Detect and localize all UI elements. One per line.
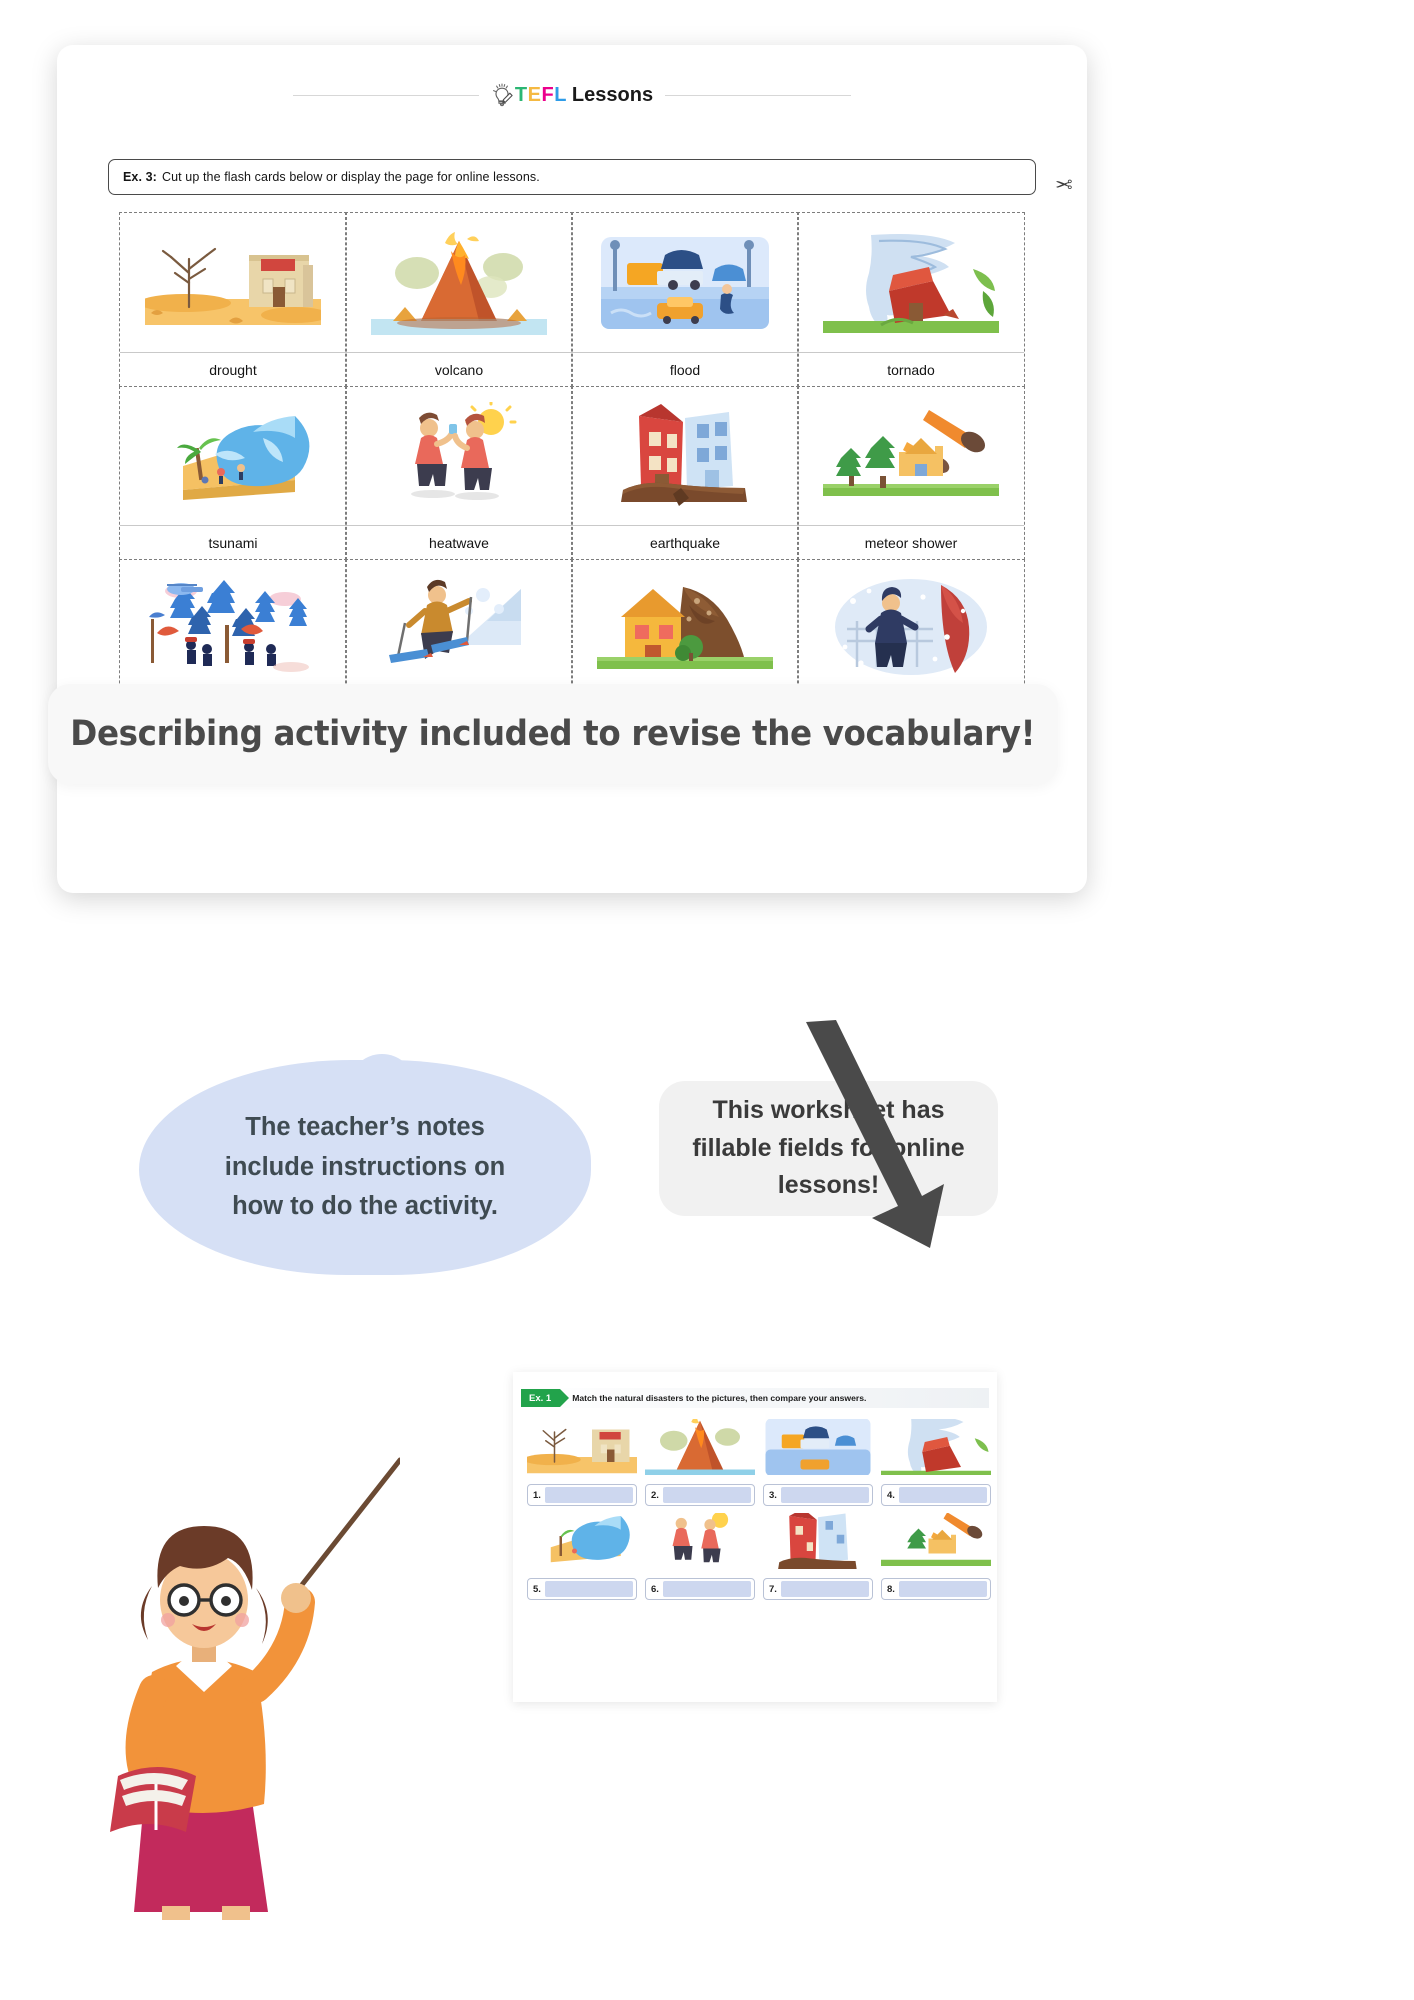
preview-cell-8: 8. [881, 1512, 991, 1600]
preview-instruction-text: Match the natural disasters to the pictu… [572, 1393, 866, 1403]
header-rule-right [665, 95, 851, 96]
header-rule-left [293, 95, 479, 96]
flashcard-label: flood [572, 352, 798, 386]
logo-letter-e: E [528, 84, 542, 106]
flashcard-heatwave[interactable]: heatwave [345, 386, 573, 561]
flashcard-label: heatwave [346, 525, 572, 559]
flood-thumbnail [763, 1418, 873, 1476]
preview-answer-field-5[interactable]: 5. [527, 1578, 637, 1600]
field-number: 3. [769, 1490, 777, 1501]
field-input[interactable] [663, 1487, 751, 1503]
preview-answer-field-4[interactable]: 4. [881, 1484, 991, 1506]
teacher-illustration [100, 1440, 400, 1920]
field-number: 6. [651, 1584, 659, 1595]
preview-grid: 1. 2. [527, 1418, 985, 1600]
worksheet-preview[interactable]: Ex. 1 Match the natural disasters to the… [513, 1372, 997, 1702]
heatwave-thumbnail [645, 1512, 755, 1570]
preview-cell-1: 1. [527, 1418, 637, 1506]
field-number: 1. [533, 1490, 541, 1501]
pointer-arrow-icon [780, 1020, 960, 1250]
logo-letters: TEFL [515, 84, 567, 107]
field-number: 4. [887, 1490, 895, 1501]
landslide-illustration [572, 560, 798, 699]
drought-thumbnail [527, 1418, 637, 1476]
exercise-instruction-bar: Ex. 3: Cut up the flash cards below or d… [108, 159, 1036, 195]
logo-word-lessons: Lessons [572, 84, 653, 107]
field-input[interactable] [781, 1487, 869, 1503]
earthquake-thumbnail [763, 1512, 873, 1570]
tefl-lessons-logo: TEFL Lessons [479, 83, 665, 107]
tornado-illustration [798, 213, 1024, 352]
flashcard-tsunami[interactable]: tsunami [119, 386, 347, 561]
preview-cell-5: 5. [527, 1512, 637, 1600]
tsunami-thumbnail [527, 1512, 637, 1570]
thought-bubble: The teacher’s notes include instructions… [139, 1060, 591, 1275]
field-input[interactable] [781, 1581, 869, 1597]
avalanche-illustration [346, 560, 572, 699]
preview-answer-field-3[interactable]: 3. [763, 1484, 873, 1506]
preview-answer-field-8[interactable]: 8. [881, 1578, 991, 1600]
flashcard-label: earthquake [572, 525, 798, 559]
flashcard-label: drought [120, 352, 346, 386]
field-number: 7. [769, 1584, 777, 1595]
logo-letter-l: L [554, 84, 567, 106]
preview-cell-2: 2. [645, 1418, 755, 1506]
flashcard-drought[interactable]: drought [119, 212, 347, 387]
tsunami-illustration [120, 387, 346, 526]
meteor-thumbnail [881, 1512, 991, 1570]
field-input[interactable] [899, 1581, 987, 1597]
thought-bubble-text: The teacher’s notes include instructions… [200, 1108, 530, 1227]
field-input[interactable] [545, 1487, 633, 1503]
field-input[interactable] [663, 1581, 751, 1597]
flashcard-tornado[interactable]: tornado [797, 212, 1025, 387]
scissors-icon: ✂ [1055, 173, 1073, 198]
preview-cell-4: 4. [881, 1418, 991, 1506]
preview-cell-7: 7. [763, 1512, 873, 1600]
flashcard-meteor-shower[interactable]: meteor shower [797, 386, 1025, 561]
volcano-illustration [346, 213, 572, 352]
field-input[interactable] [545, 1581, 633, 1597]
flashcard-label: volcano [346, 352, 572, 386]
headline-panel: Describing activity included to revise t… [48, 684, 1058, 784]
heatwave-illustration [346, 387, 572, 526]
preview-exercise-badge: Ex. 1 [521, 1389, 560, 1407]
preview-answer-field-2[interactable]: 2. [645, 1484, 755, 1506]
volcano-thumbnail [645, 1418, 755, 1476]
flashcard-label: meteor shower [798, 525, 1024, 559]
lightbulb-pencil-icon [491, 83, 513, 107]
wildfire-illustration [120, 560, 346, 699]
earthquake-illustration [572, 387, 798, 526]
flashcard-label: tsunami [120, 525, 346, 559]
logo-letter-t: T [515, 84, 528, 106]
flashcard-flood[interactable]: flood [571, 212, 799, 387]
meteor-illustration [798, 387, 1024, 526]
headline-text: Describing activity included to revise t… [71, 714, 1036, 754]
flashcard-grid: drought [120, 213, 1024, 733]
exercise-number-label: Ex. 3: [123, 170, 157, 184]
preview-instruction-bar: Ex. 1 Match the natural disasters to the… [521, 1388, 989, 1408]
field-number: 5. [533, 1584, 541, 1595]
flood-illustration [572, 213, 798, 352]
exercise-instruction-text: Cut up the flash cards below or display … [162, 170, 540, 184]
logo-letter-f: F [541, 84, 554, 106]
flashcard-volcano[interactable]: volcano [345, 212, 573, 387]
promo-page: TEFL Lessons Ex. 3: Cut up the flash car… [0, 0, 1414, 2000]
field-input[interactable] [899, 1487, 987, 1503]
brand-header: TEFL Lessons [57, 83, 1087, 107]
flashcard-label: tornado [798, 352, 1024, 386]
tornado-thumbnail [881, 1418, 991, 1476]
drought-illustration [120, 213, 346, 352]
flashcard-earthquake[interactable]: earthquake [571, 386, 799, 561]
blizzard-illustration [798, 560, 1024, 699]
preview-cell-6: 6. [645, 1512, 755, 1600]
preview-answer-field-7[interactable]: 7. [763, 1578, 873, 1600]
preview-answer-field-1[interactable]: 1. [527, 1484, 637, 1506]
field-number: 2. [651, 1490, 659, 1501]
field-number: 8. [887, 1584, 895, 1595]
preview-answer-field-6[interactable]: 6. [645, 1578, 755, 1600]
preview-cell-3: 3. [763, 1418, 873, 1506]
